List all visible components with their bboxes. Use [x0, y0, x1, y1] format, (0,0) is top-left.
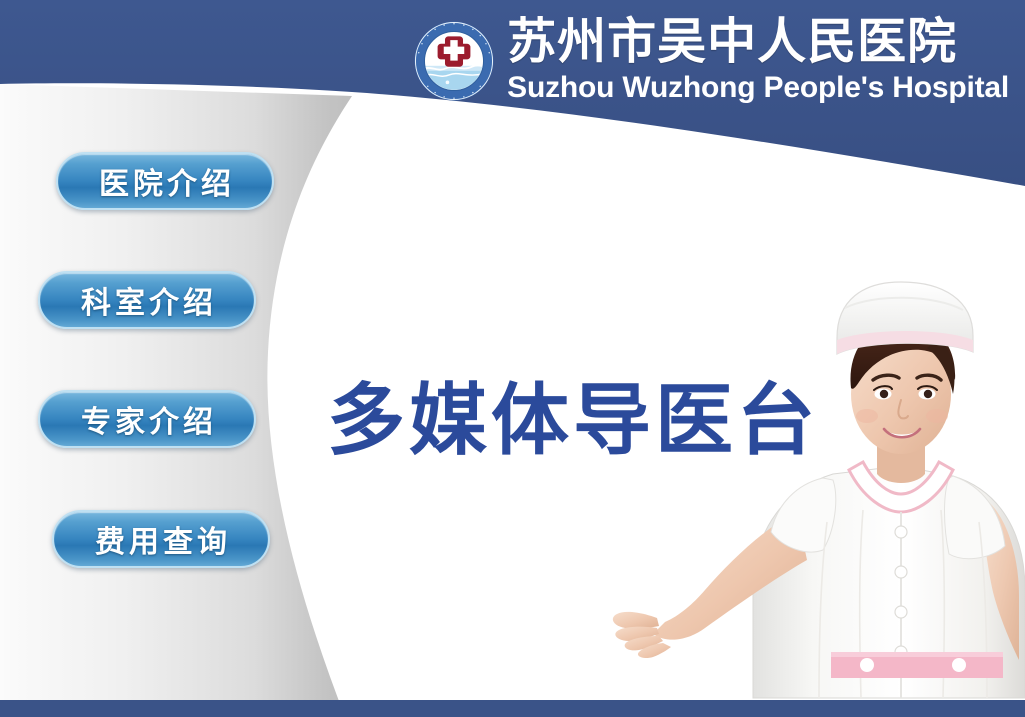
kiosk-screen: 苏州市吴中人民医院 Suzhou Wuzhong People's Hospit… [0, 0, 1025, 717]
footer-bar [0, 700, 1025, 717]
sidebar-item-label: 医院介绍 [95, 159, 235, 203]
sidebar-item-department-intro[interactable]: 科室介绍 [38, 271, 256, 329]
page-title: 多媒体导医台 [327, 358, 819, 470]
sidebar-item-expert-intro[interactable]: 专家介绍 [38, 390, 256, 448]
sidebar-item-label: 科室介绍 [77, 278, 217, 322]
sidebar-item-hospital-intro[interactable]: 医院介绍 [56, 152, 274, 210]
sidebar-item-label: 专家介绍 [77, 397, 217, 441]
sidebar-item-label: 费用查询 [91, 517, 231, 561]
sidebar-item-fee-inquiry[interactable]: 费用查询 [52, 510, 270, 568]
